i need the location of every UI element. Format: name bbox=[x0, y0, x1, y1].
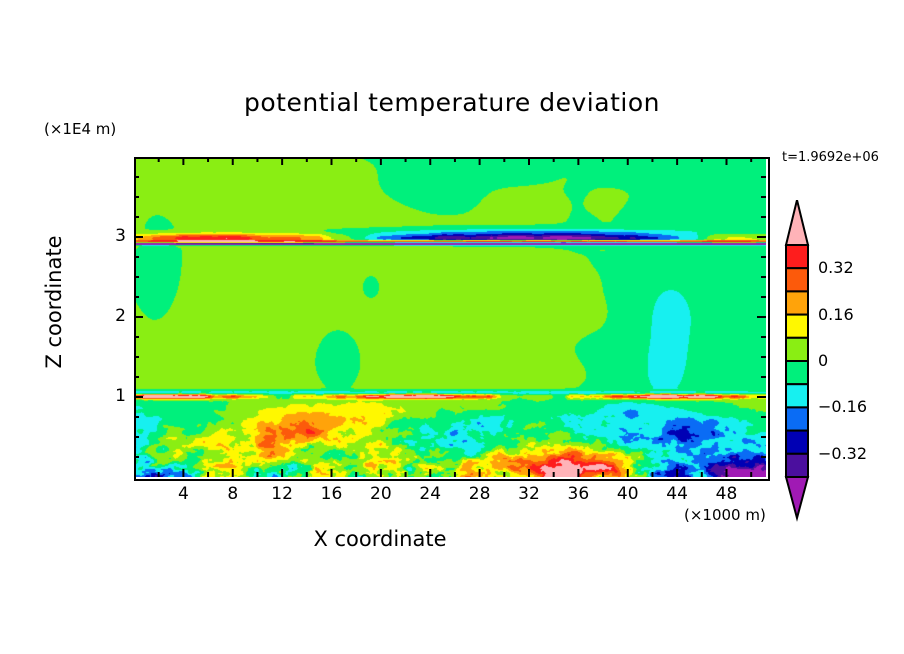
x-tick-label: 48 bbox=[716, 484, 738, 504]
colorbar-under-arrow bbox=[786, 477, 808, 518]
colorbar-band bbox=[786, 384, 808, 407]
colorbar-band bbox=[786, 407, 808, 430]
y-tick-label: 2 bbox=[110, 306, 126, 326]
colorbar bbox=[784, 200, 904, 530]
contour-plot-area bbox=[134, 157, 766, 477]
colorbar-tick-label: −0.16 bbox=[818, 397, 867, 416]
colorbar-band bbox=[786, 315, 808, 338]
x-axis-unit-label: (×1000 m) bbox=[684, 506, 766, 524]
x-tick-label: 40 bbox=[617, 484, 639, 504]
colorbar-band bbox=[786, 431, 808, 454]
x-tick-label: 24 bbox=[419, 484, 441, 504]
x-tick-label: 36 bbox=[567, 484, 589, 504]
y-tick-label: 1 bbox=[110, 386, 126, 406]
colorbar-band bbox=[786, 454, 808, 477]
timestamp-annotation: t=1.9692e+06 bbox=[782, 150, 879, 165]
y-axis-title: Z coordinate bbox=[42, 212, 66, 392]
x-tick-label: 32 bbox=[518, 484, 540, 504]
contour-field-canvas bbox=[134, 157, 766, 477]
colorbar-tick-label: 0.32 bbox=[818, 258, 854, 277]
figure-root: potential temperature deviation (×1E4 m)… bbox=[0, 0, 904, 654]
x-tick-label: 4 bbox=[172, 484, 194, 504]
x-tick-label: 8 bbox=[222, 484, 244, 504]
x-tick-label: 16 bbox=[321, 484, 343, 504]
colorbar-band bbox=[786, 291, 808, 314]
x-tick-label: 12 bbox=[271, 484, 293, 504]
y-axis-unit-label: (×1E4 m) bbox=[44, 120, 116, 138]
colorbar-band bbox=[786, 338, 808, 361]
chart-title: potential temperature deviation bbox=[0, 88, 904, 117]
colorbar-tick-label: 0.16 bbox=[818, 305, 854, 324]
x-tick-label: 44 bbox=[666, 484, 688, 504]
colorbar-tick-label: −0.32 bbox=[818, 444, 867, 463]
y-tick-label: 3 bbox=[110, 226, 126, 246]
colorbar-tick-label: 0 bbox=[818, 351, 828, 370]
colorbar-band bbox=[786, 268, 808, 291]
x-tick-label: 28 bbox=[469, 484, 491, 504]
colorbar-over-arrow bbox=[786, 200, 808, 245]
colorbar-band bbox=[786, 245, 808, 268]
x-tick-label: 20 bbox=[370, 484, 392, 504]
colorbar-band bbox=[786, 361, 808, 384]
x-axis-title: X coordinate bbox=[0, 527, 760, 551]
